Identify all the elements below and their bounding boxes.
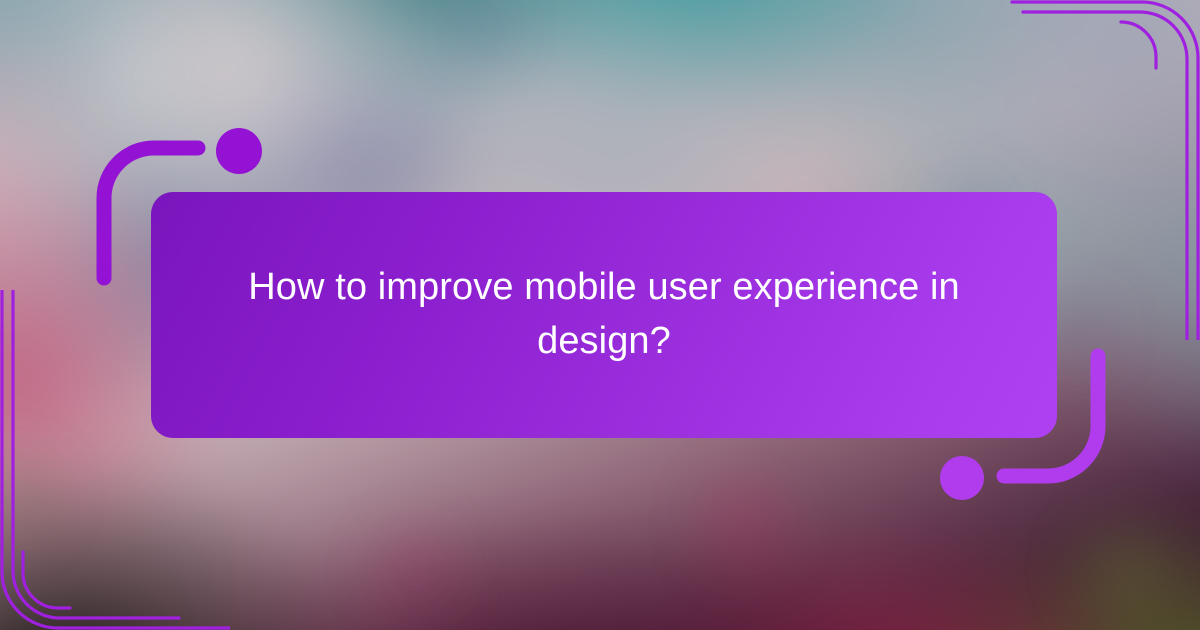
dot-top-icon bbox=[216, 128, 262, 174]
page-title: How to improve mobile user experience in… bbox=[224, 261, 984, 369]
social-card-canvas: How to improve mobile user experience in… bbox=[0, 0, 1200, 630]
title-card[interactable]: How to improve mobile user experience in… bbox=[151, 192, 1057, 438]
dot-bottom-icon bbox=[940, 456, 984, 500]
